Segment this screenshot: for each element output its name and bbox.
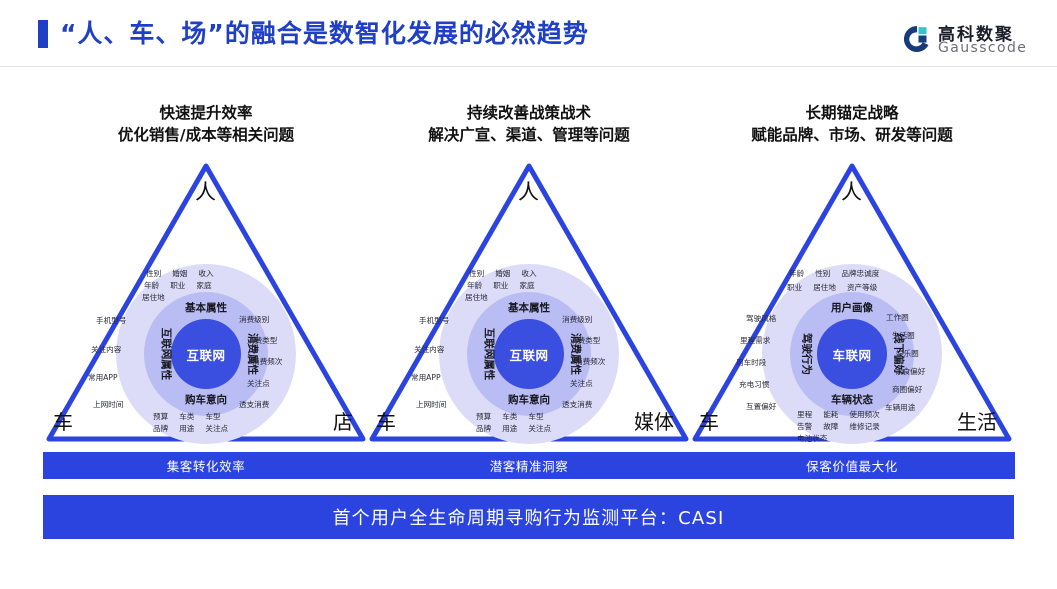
tag: 职业	[170, 280, 185, 291]
heading-line-1: 长期锚定战略	[689, 102, 1015, 124]
tag-row-bottom-a: 里程 能耗 使用频次	[797, 409, 880, 420]
triangle-corner-bottom-right: 店	[333, 412, 353, 432]
heading-line-1: 快速提升效率	[43, 102, 369, 124]
core-label: 车联网	[817, 319, 887, 389]
tag: 性别	[815, 268, 830, 279]
tag-left-4: 上网时间	[416, 399, 446, 410]
tag-right-3: 娱乐圈	[896, 348, 919, 359]
tag-row-top-b: 年龄 职业 家庭	[144, 280, 212, 291]
tag-right-4: 饮食偏好	[895, 366, 925, 377]
tag-left-3: 常用APP	[88, 372, 118, 383]
tag-right-1: 消费级别	[239, 314, 269, 325]
tag-row-bottom-b: 告警 故障 维修记录	[797, 421, 880, 432]
triangle-panel-2: 人 车 媒体 互联网 互联网 基本属性 购车意向 互联网属性 消费属性 性别 婚…	[366, 160, 692, 445]
tag-row-top-b: 年龄 职业 家庭	[467, 280, 535, 291]
title-bullet-icon	[38, 20, 48, 48]
summary-bar-3: 保客价值最大化	[689, 452, 1015, 479]
tag-row-top-b: 职业 居住地 资产等级	[787, 282, 877, 293]
tag-left-4: 充电习惯	[739, 379, 769, 390]
tag-row-bottom-a: 预算 车类 车型	[476, 411, 544, 422]
tag: 预算	[153, 411, 168, 422]
tag-left-1: 手机型号	[96, 315, 126, 326]
tag: 车类	[179, 411, 194, 422]
ring-caption-bottom: 购车意向	[508, 392, 550, 407]
tag: 年龄	[144, 280, 159, 291]
tag: 用途	[502, 423, 517, 434]
tag-row-bottom-b: 品牌 用途 关注点	[476, 423, 551, 434]
tag: 车型	[528, 411, 543, 422]
tag: 用途	[179, 423, 194, 434]
tag-right-3: 消费频次	[575, 356, 605, 367]
summary-bar-1: 集客转化效率	[43, 452, 369, 479]
column-heading-1: 快速提升效率 优化销售/成本等相关问题	[43, 102, 369, 147]
tag-left-3: 用车时段	[736, 357, 766, 368]
tag-right-1: 工作圈	[886, 312, 909, 323]
tag-row-top-a: 年龄 性别 品牌忠诚度	[789, 268, 879, 279]
heading-line-2: 优化销售/成本等相关问题	[43, 124, 369, 147]
tag: 关注点	[528, 423, 551, 434]
tag-right-4: 关注点	[247, 378, 270, 389]
tag: 收入	[198, 268, 213, 279]
tag-right-3: 消费频次	[252, 356, 282, 367]
tag: 故障	[823, 421, 838, 432]
tag: 职业	[787, 282, 802, 293]
tag: 婚姻	[495, 268, 510, 279]
triangle-corner-top: 人	[841, 182, 862, 202]
tag: 收入	[521, 268, 536, 279]
tag-top-c: 居住地	[465, 292, 488, 303]
tag: 年龄	[789, 268, 804, 279]
heading-line-2: 赋能品牌、市场、研发等问题	[689, 124, 1015, 147]
ring-caption-top: 基本属性	[508, 300, 550, 315]
core-label: 互联网	[494, 319, 564, 389]
tag: 里程	[797, 409, 812, 420]
heading-line-1: 持续改善战策战术	[366, 102, 692, 124]
tag: 职业	[493, 280, 508, 291]
tag-right-1: 消费级别	[562, 314, 592, 325]
ring-caption-top: 基本属性	[185, 300, 227, 315]
tag-left-1: 驾驶风格	[746, 313, 776, 324]
tag: 预算	[476, 411, 491, 422]
ring-caption-bottom: 购车意向	[185, 392, 227, 407]
tag-left-4: 上网时间	[93, 399, 123, 410]
tag-row-top-a: 性别 婚姻 收入	[469, 268, 537, 279]
tag: 性别	[146, 268, 161, 279]
tag-bottom-c: 电池状态	[797, 433, 827, 444]
tag-right-5: 透支消费	[562, 399, 592, 410]
tag: 居住地	[813, 282, 836, 293]
tag-left-5: 互置偏好	[746, 401, 776, 412]
heading-line-2: 解决广宣、渠道、管理等问题	[366, 124, 692, 147]
triangle-corner-bottom-right: 生活	[957, 412, 997, 432]
tag: 年龄	[467, 280, 482, 291]
triangle-panel-3: 人 车 生活 车联网 车联网 用户画像 车辆状态 驾驶行为 线下偏好 年龄 性别…	[689, 160, 1015, 445]
summary-bar-2: 潜客精准洞察	[366, 452, 692, 479]
tag: 品牌	[476, 423, 491, 434]
tag: 告警	[797, 421, 812, 432]
page-header: “人、车、场”的融合是数智化发展的必然趋势 高科数聚 Gausscode	[0, 0, 1057, 68]
gausscode-logo-icon	[902, 24, 932, 54]
triangle-corner-top: 人	[518, 182, 539, 202]
triangle-panel-1: 人 车 店 互联网 互联网 基本属性 购车意向 互联网属性 消费属性 性别 婚姻…	[43, 160, 369, 445]
tag: 资产等级	[847, 282, 877, 293]
tag-right-5: 透支消费	[239, 399, 269, 410]
tag: 家庭	[519, 280, 534, 291]
tag: 能耗	[823, 409, 838, 420]
tag: 维修记录	[849, 421, 879, 432]
tag-top-c: 居住地	[142, 292, 165, 303]
tag: 品牌忠诚度	[841, 268, 879, 279]
ring-caption-left: 互联网属性	[482, 328, 497, 381]
ring-caption-left: 驾驶行为	[800, 333, 815, 375]
tag-right-6: 车辆用途	[885, 402, 915, 413]
tag-left-2: 关注内容	[91, 344, 121, 355]
tag: 车类	[502, 411, 517, 422]
tag: 使用频次	[849, 409, 879, 420]
tag-row-bottom-a: 预算 车类 车型	[153, 411, 221, 422]
core-label: 互联网	[171, 319, 241, 389]
brand-logo: 高科数聚 Gausscode	[902, 20, 1047, 62]
triangle-corner-bottom-left: 车	[699, 412, 719, 432]
ring-caption-left: 互联网属性	[159, 328, 174, 381]
tag: 车型	[205, 411, 220, 422]
column-heading-2: 持续改善战策战术 解决广宣、渠道、管理等问题	[366, 102, 692, 147]
tag-left-1: 手机型号	[419, 315, 449, 326]
page-title: “人、车、场”的融合是数智化发展的必然趋势	[60, 16, 589, 52]
triangle-corner-bottom-left: 车	[53, 412, 73, 432]
tag-right-4: 关注点	[570, 378, 593, 389]
tag-row-bottom-b: 品牌 用途 关注点	[153, 423, 228, 434]
logo-text-en: Gausscode	[938, 40, 1027, 56]
tag-right-2: 消费类型	[247, 335, 277, 346]
tag: 婚姻	[172, 268, 187, 279]
tag: 品牌	[153, 423, 168, 434]
triangle-corner-top: 人	[195, 182, 216, 202]
tag-left-3: 常用APP	[411, 372, 441, 383]
tag-left-2: 关注内容	[414, 344, 444, 355]
triangle-corner-bottom-left: 车	[376, 412, 396, 432]
ring-caption-bottom: 车辆状态	[831, 392, 873, 407]
ring-caption-top: 用户画像	[831, 300, 873, 315]
tag-row-top-a: 性别 婚姻 收入	[146, 268, 214, 279]
triangle-corner-bottom-right: 媒体	[634, 412, 674, 432]
tag: 关注点	[205, 423, 228, 434]
tag: 家庭	[196, 280, 211, 291]
tag-right-2: 消费类型	[570, 335, 600, 346]
header-divider	[0, 66, 1057, 67]
tag-left-2: 里程需求	[740, 335, 770, 346]
column-heading-3: 长期锚定战略 赋能品牌、市场、研发等问题	[689, 102, 1015, 147]
tag: 性别	[469, 268, 484, 279]
tag-right-5: 商圈偏好	[892, 384, 922, 395]
tag-right-2: 生活圈	[892, 330, 915, 341]
platform-footer-bar: 首个用户全生命周期寻购行为监测平台：CASI	[43, 495, 1014, 539]
